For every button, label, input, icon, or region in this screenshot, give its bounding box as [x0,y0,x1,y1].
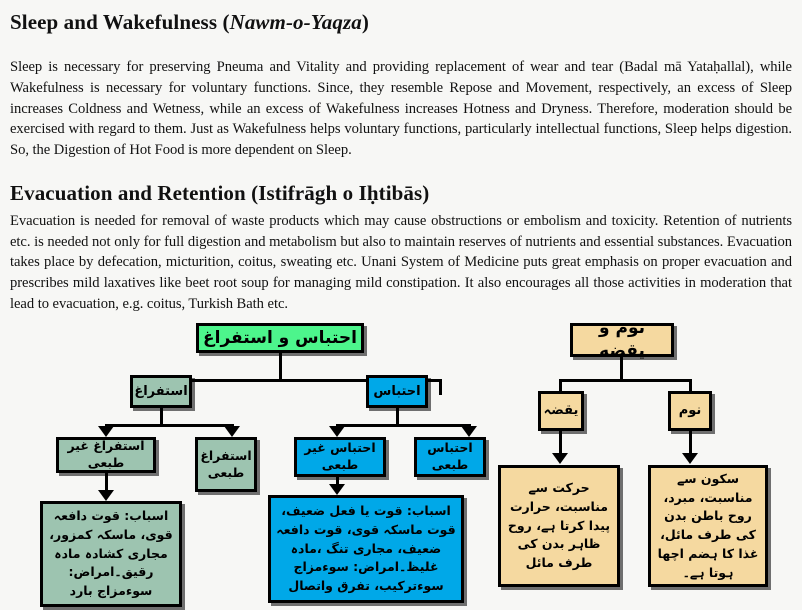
connector-retention-stem [396,408,399,424]
arrowhead-sleep-detail [682,453,698,464]
document-page: Sleep and Wakefulness (Nawm-o-Yaqza) Sle… [0,0,802,610]
arrowhead-ret-unnatural [329,426,345,437]
node-retention-natural: احتباس طبعی [414,437,486,477]
arrowhead-evac-detail [98,490,114,501]
node-evacuation-natural: استفراغ طبعی [195,437,257,492]
arrowhead-ret-natural [461,426,477,437]
box-sleep-details: سکون سے مناسبت، مبرد، روح باطن بدن کی طر… [648,465,768,587]
heading-sleep-close-paren: ) [362,10,369,34]
node-sleep: نوم [668,391,712,431]
connector-left-to-retention [439,379,442,395]
hierarchy-diagram: احتباس و استفراغ استفراغ احتباس استفراغ … [0,318,802,610]
node-retention: احتباس [366,375,428,408]
connector-retention-bus [337,424,471,427]
left-tree-root: احتباس و استفراغ [196,323,364,353]
heading-sleep-transliteration: Nawm-o-Yaqza [230,10,362,34]
connector-right-root-bus [560,379,692,382]
node-evacuation-unnatural: استفراغ غیر طبعی [56,437,156,473]
right-tree-root: نوم و يقضه [570,323,674,357]
connector-evacuation-bus [106,424,234,427]
paragraph-sleep: Sleep is necessary for preserving Pneuma… [10,57,792,161]
arrowhead-wakefulness-detail [552,453,568,464]
arrowhead-ret-detail [329,484,345,495]
connector-evacuation-stem [160,408,163,424]
node-wakefulness: یقضہ [538,391,584,431]
arrowhead-evac-unnatural [98,426,114,437]
arrowhead-evac-natural [224,426,240,437]
paragraph-evacuation: Evacuation is needed for removal of wast… [10,211,792,315]
connector-left-root-stem [279,353,282,379]
node-retention-unnatural: احتباس غیر طبعی [294,437,386,477]
node-evacuation: استفراغ [130,375,192,408]
page-heading-evacuation: Evacuation and Retention (Istifrāgh o Iḥ… [10,181,792,206]
page-heading-sleep: Sleep and Wakefulness (Nawm-o-Yaqza) [10,10,792,35]
box-retention-details: اسباب: قوت یا فعل ضعیف، قوت ماسکہ قوی، ق… [268,495,464,603]
box-evacuation-details: اسباب: قوت دافعہ قوی، ماسکہ کمزور، مجاری… [40,501,182,607]
heading-sleep-text: Sleep and Wakefulness ( [10,10,230,34]
box-wakefulness-details: حرکت سے مناسبت، حرارت پیدا کرتا ہے، روح … [498,465,620,587]
